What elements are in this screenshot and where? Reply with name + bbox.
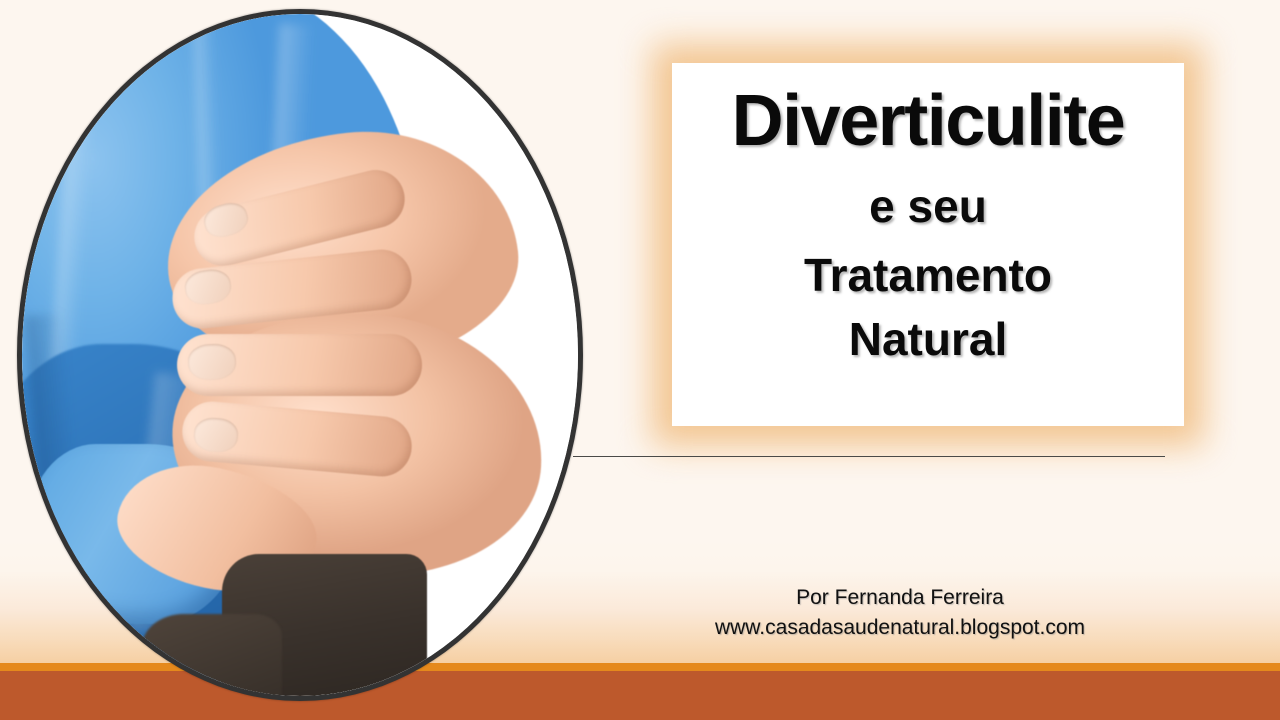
title-main: Diverticulite (732, 81, 1125, 162)
fingernail (187, 343, 236, 381)
photo-oval-frame (17, 9, 583, 701)
credit-author: Por Fernanda Ferreira (600, 583, 1200, 613)
title-line-2: e seu (869, 180, 987, 233)
horizontal-divider (573, 456, 1165, 457)
credit-website: www.casadasaudenatural.blogspot.com (600, 613, 1200, 643)
dark-trousers (142, 614, 282, 696)
abdominal-pain-photo (22, 14, 578, 696)
credits-block: Por Fernanda Ferreira www.casadasaudenat… (600, 583, 1200, 644)
title-line-3: Tratamento (804, 249, 1052, 302)
presentation-slide: Diverticulite e seu Tratamento Natural P… (0, 0, 1280, 720)
title-line-4: Natural (849, 313, 1007, 366)
title-card: Diverticulite e seu Tratamento Natural (672, 63, 1184, 426)
